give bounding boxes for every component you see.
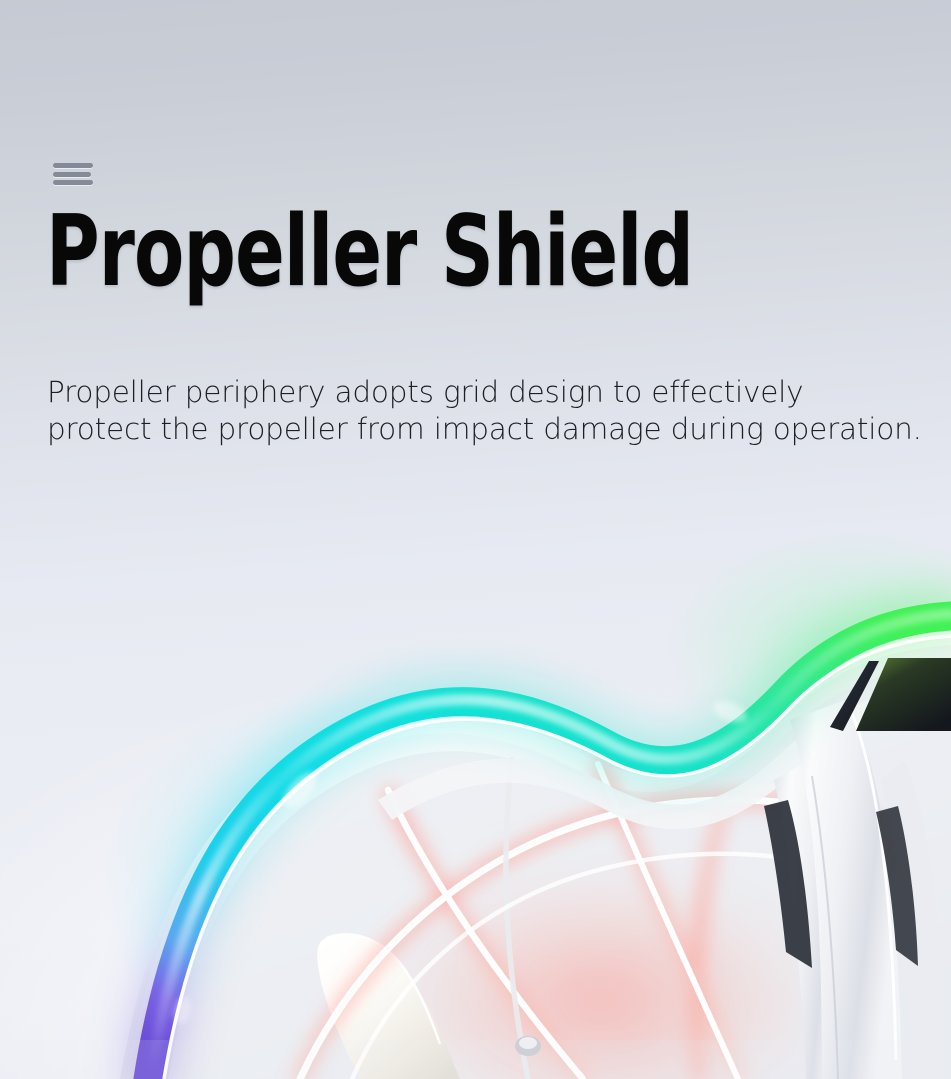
product-artwork-group [0,530,951,1079]
motor-arm-highlight [848,704,896,1060]
hamburger-bar-bottom [53,180,93,185]
rim-hotspot-3 [171,994,193,1025]
hamburger-bar-top [53,163,93,168]
propeller-blade-group [317,934,460,1079]
rim-bloom [148,616,951,1079]
rim-hotspot-2 [710,697,750,727]
motor-arm-left-fin [774,762,846,1079]
strut-diagonal-right [598,764,738,1079]
description-line-1: Propeller periphery adopts grid design t… [47,374,937,411]
propeller-blade-edge [326,934,440,1044]
shell-forward-rail [378,682,951,829]
logo-bar [830,661,879,731]
grid-struts [300,760,898,1079]
hamburger-menu-button[interactable] [53,163,93,185]
product-illustration [0,0,951,1079]
motor-arm-group [774,700,946,1079]
warm-ambient-glow [260,770,860,1079]
page-description: Propeller periphery adopts grid design t… [47,374,937,448]
rim-hotspot-1 [278,767,322,813]
shell-top-highlight [126,625,951,1079]
rim-specular [152,614,951,1068]
cyan-ambient-glow [100,690,560,1070]
strut-inner-arc [352,854,872,1079]
page-title: Propeller Shield [46,203,693,301]
strut-vertical-center [506,760,528,1079]
rim-parting-line [164,636,951,1079]
green-ambient-glow [665,530,951,770]
bottom-blend [0,1040,951,1079]
strut-arc-outer-core [300,800,880,1079]
shield-shell-body [120,620,951,1079]
logo-triangle [856,658,951,731]
shield-shell-inner-shade [168,664,951,1079]
iridescent-rim [148,616,951,1079]
strut-hub-joint [515,1036,541,1056]
strut-diagonal-left [388,790,583,1079]
interior-warm-bloom [330,840,870,1079]
hamburger-bar-middle [53,172,91,177]
description-line-2: protect the propeller from impact damage… [47,411,937,448]
page-root: Propeller Shield Propeller periphery ado… [0,0,951,1079]
motor-arm-shadow [812,776,838,1079]
grid-struts-glow [300,766,900,1079]
iridescent-rim-group [148,614,951,1079]
propeller-blade [317,934,460,1079]
motor-arm-body [790,700,902,1079]
motor-arm-right-fin [880,760,946,1079]
arm-slot-left [764,800,812,968]
arm-slot-right [876,806,918,966]
strut-right-vertical [834,846,898,1079]
strut-arc-outer [300,800,880,1079]
brand-logo-mark [830,658,951,731]
